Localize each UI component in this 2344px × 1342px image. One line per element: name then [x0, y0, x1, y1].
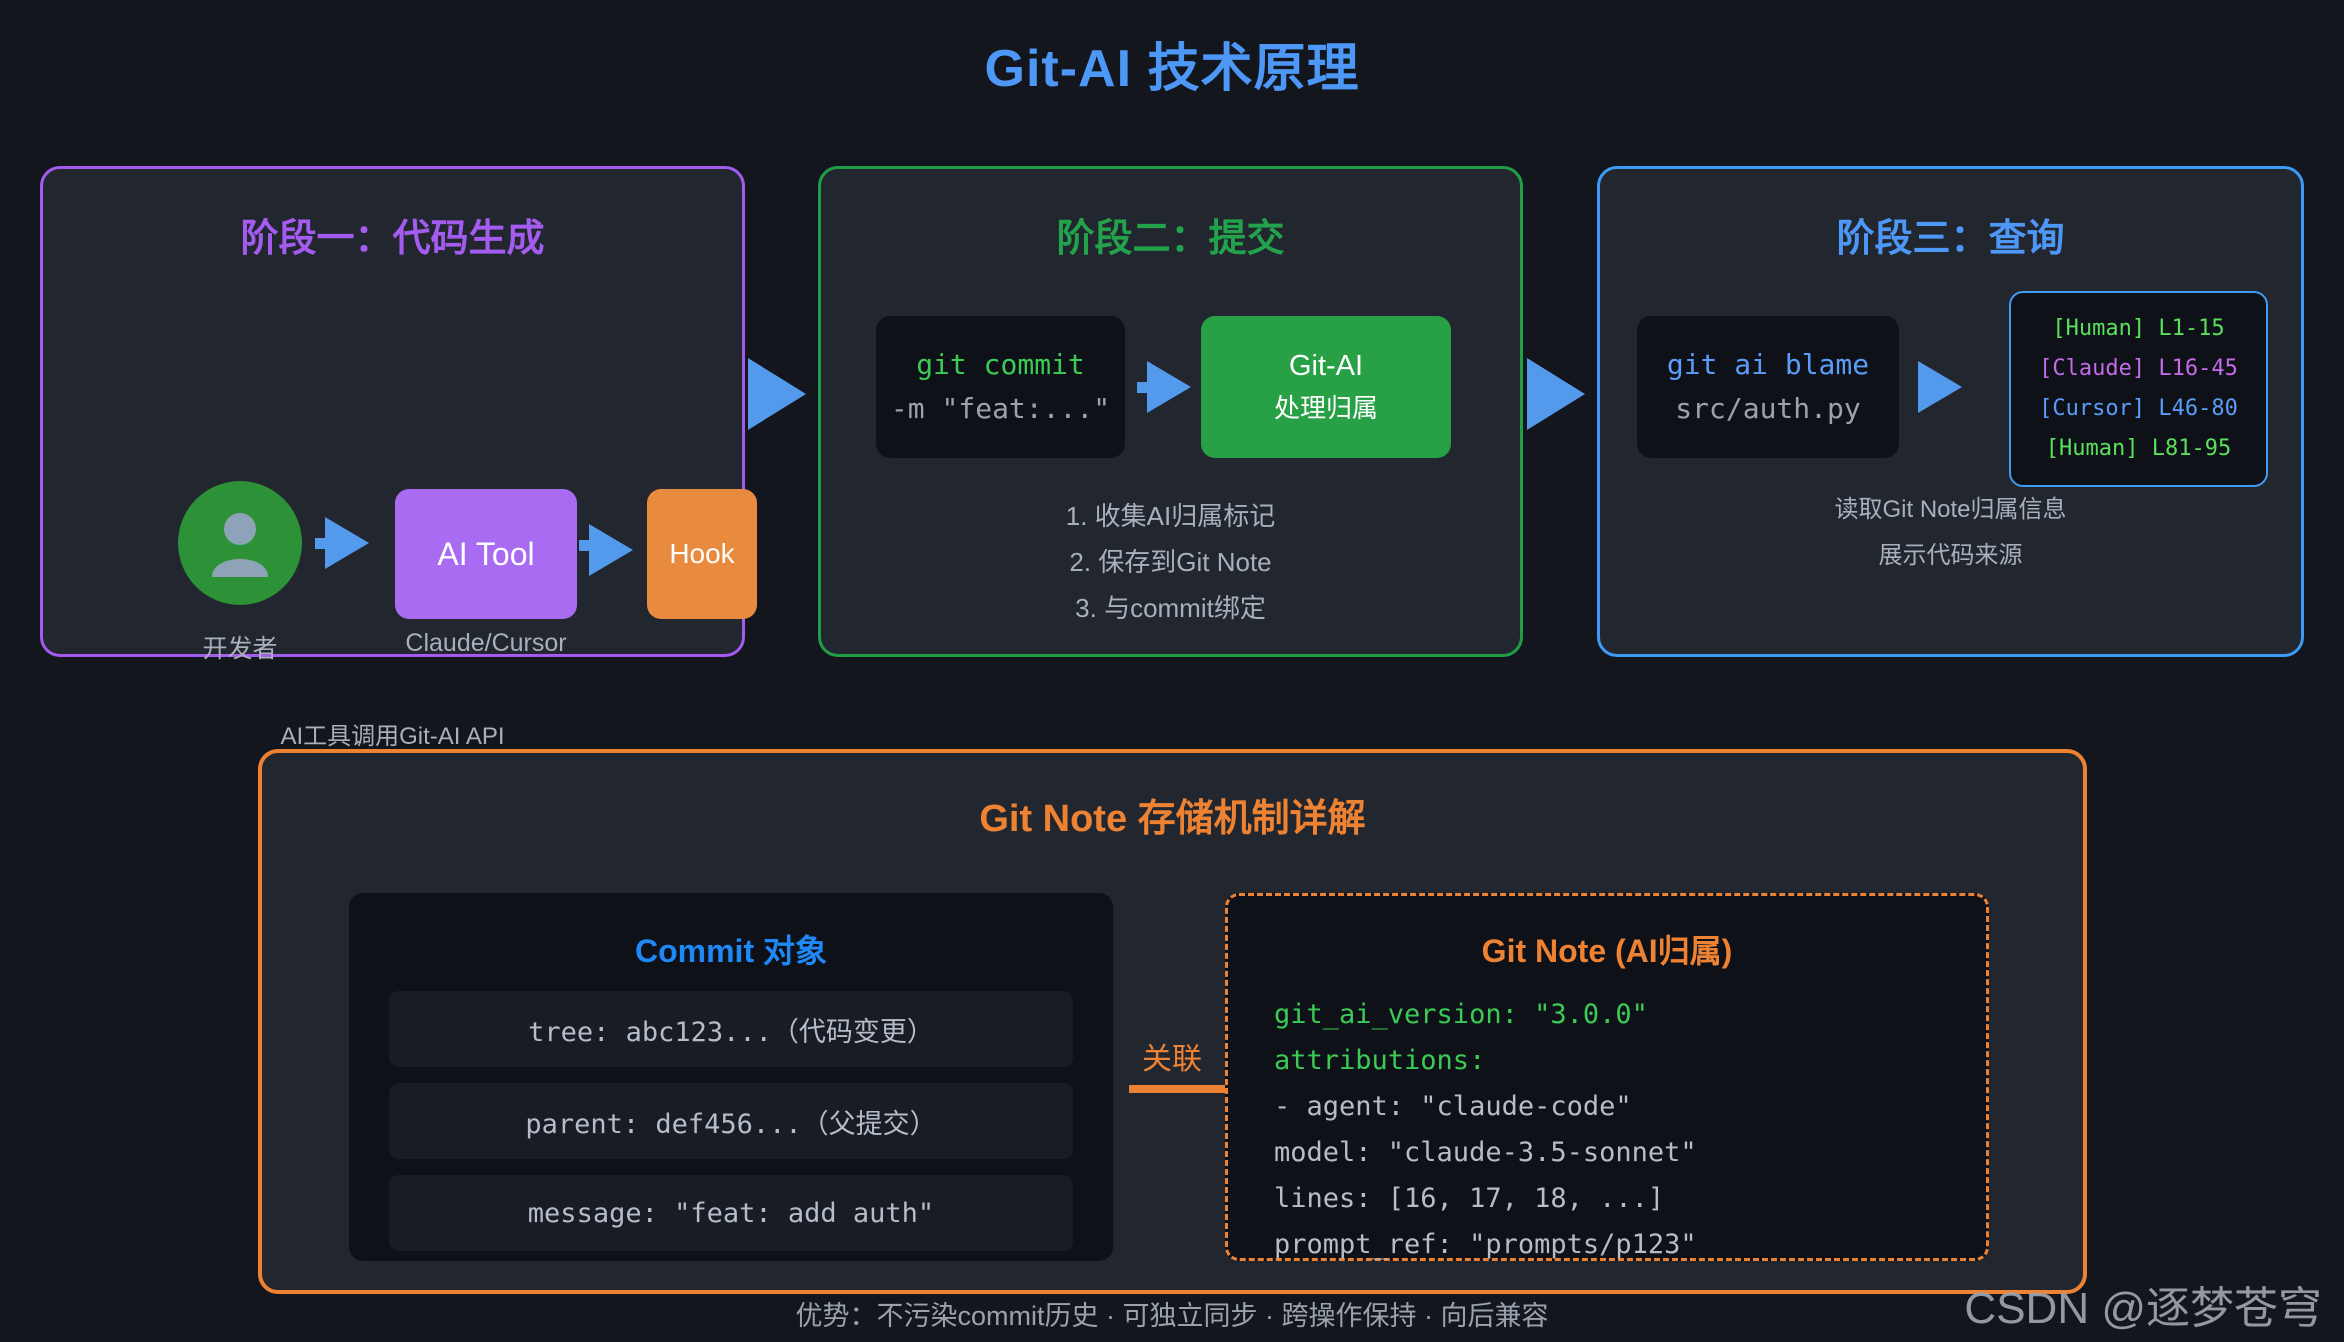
- arrow-blame-to-output-icon: [1918, 361, 1962, 413]
- stage3-caption-line1: 读取Git Note归属信息: [1600, 487, 2301, 533]
- yaml-line-0: git_ai_version: "3.0.0": [1274, 992, 1697, 1038]
- stage2-steps-list: 1. 收集AI归属标记 2. 保存到Git Note 3. 与commit绑定: [821, 493, 1520, 631]
- commit-note-connector-line: [1129, 1085, 1239, 1093]
- ai-tool-label: AI Tool: [437, 536, 534, 573]
- blame-line-3: [Human] L81-95: [2046, 429, 2231, 469]
- developer-avatar: [178, 481, 302, 605]
- gitnote-yaml-title: Git Note (AI归属): [1228, 926, 1986, 972]
- gitnote-yaml-body: git_ai_version: "3.0.0" attributions: - …: [1274, 992, 1697, 1268]
- stage3-title: 阶段三：查询: [1600, 207, 2301, 262]
- stage2-panel: 阶段二：提交 git commit -m "feat:..." Git-AI 处…: [818, 166, 1523, 657]
- blame-line-0: [Human] L1-15: [2052, 309, 2224, 349]
- gitnote-panel: Git Note 存储机制详解 Commit 对象 tree: abc123..…: [258, 749, 2087, 1294]
- git-ai-blame-command-box: git ai blame src/auth.py: [1637, 316, 1899, 458]
- blame-line-1: [Claude] L16-45: [2039, 349, 2238, 389]
- gitnote-section-title: Git Note 存储机制详解: [262, 787, 2083, 842]
- hook-box: Hook: [647, 489, 757, 619]
- arrow-developer-to-aitool-icon: [325, 517, 369, 569]
- gitai-sub: 处理归属: [1274, 387, 1378, 429]
- arrow-commit-to-gitai-icon: [1147, 361, 1191, 413]
- commit-field-tree: tree: abc123...（代码变更）: [389, 991, 1073, 1067]
- arrow-stage1-to-stage2-icon: [748, 358, 806, 430]
- git-blame-line1: git ai blame: [1667, 343, 1869, 387]
- stage1-panel: 阶段一：代码生成 AI Tool Hook 开发者 Claude/Cursor …: [40, 166, 745, 657]
- git-commit-line2: -m "feat:...": [891, 387, 1110, 431]
- gitnote-yaml-box: Git Note (AI归属) git_ai_version: "3.0.0" …: [1225, 893, 1989, 1261]
- blame-line-2: [Cursor] L46-80: [2039, 389, 2238, 429]
- diagram-canvas: Git-AI 技术原理 阶段一：代码生成 AI Tool Hook 开发者 Cl…: [0, 0, 2344, 1342]
- commit-object-title: Commit 对象: [349, 926, 1113, 972]
- arrow-stage2-to-stage3-icon: [1527, 358, 1585, 430]
- stage3-caption-line2: 展示代码来源: [1600, 533, 2301, 579]
- git-commit-line1: git commit: [916, 343, 1085, 387]
- stage2-step-2: 2. 保存到Git Note: [821, 539, 1520, 585]
- stage2-title: 阶段二：提交: [821, 207, 1520, 262]
- arrow-aitool-to-hook-icon: [589, 524, 633, 576]
- yaml-line-2: - agent: "claude-code": [1274, 1084, 1697, 1130]
- yaml-line-4: lines: [16, 17, 18, ...]: [1274, 1176, 1697, 1222]
- ai-tool-box: AI Tool: [395, 489, 577, 619]
- ai-tool-caption: Claude/Cursor: [373, 629, 599, 658]
- yaml-line-1: attributions:: [1274, 1038, 1697, 1084]
- commit-object-box: Commit 对象 tree: abc123...（代码变更） parent: …: [349, 893, 1113, 1261]
- hook-label: Hook: [669, 538, 734, 570]
- commit-field-parent: parent: def456...（父提交）: [389, 1083, 1073, 1159]
- gitai-name: Git-AI: [1289, 345, 1363, 387]
- csdn-watermark: CSDN @逐梦苍穹: [1964, 1272, 2322, 1336]
- gitai-processor-box: Git-AI 处理归属: [1201, 316, 1451, 458]
- git-commit-command-box: git commit -m "feat:...": [876, 316, 1125, 458]
- blame-output-box: [Human] L1-15 [Claude] L16-45 [Cursor] L…: [2009, 291, 2268, 487]
- page-title: Git-AI 技术原理: [0, 26, 2344, 101]
- git-blame-line2: src/auth.py: [1675, 387, 1860, 431]
- yaml-line-5: prompt_ref: "prompts/p123": [1274, 1222, 1697, 1268]
- commit-field-message: message: "feat: add auth": [389, 1175, 1073, 1251]
- commit-note-connector-label: 关联: [1142, 1034, 1202, 1078]
- stage1-title: 阶段一：代码生成: [43, 207, 742, 262]
- yaml-line-3: model: "claude-3.5-sonnet": [1274, 1130, 1697, 1176]
- stage3-panel: 阶段三：查询 git ai blame src/auth.py [Human] …: [1597, 166, 2304, 657]
- stage2-step-1: 1. 收集AI归属标记: [821, 493, 1520, 539]
- stage2-step-3: 3. 与commit绑定: [821, 585, 1520, 631]
- stage3-caption: 读取Git Note归属信息 展示代码来源: [1600, 487, 2301, 579]
- developer-label: 开发者: [121, 629, 359, 665]
